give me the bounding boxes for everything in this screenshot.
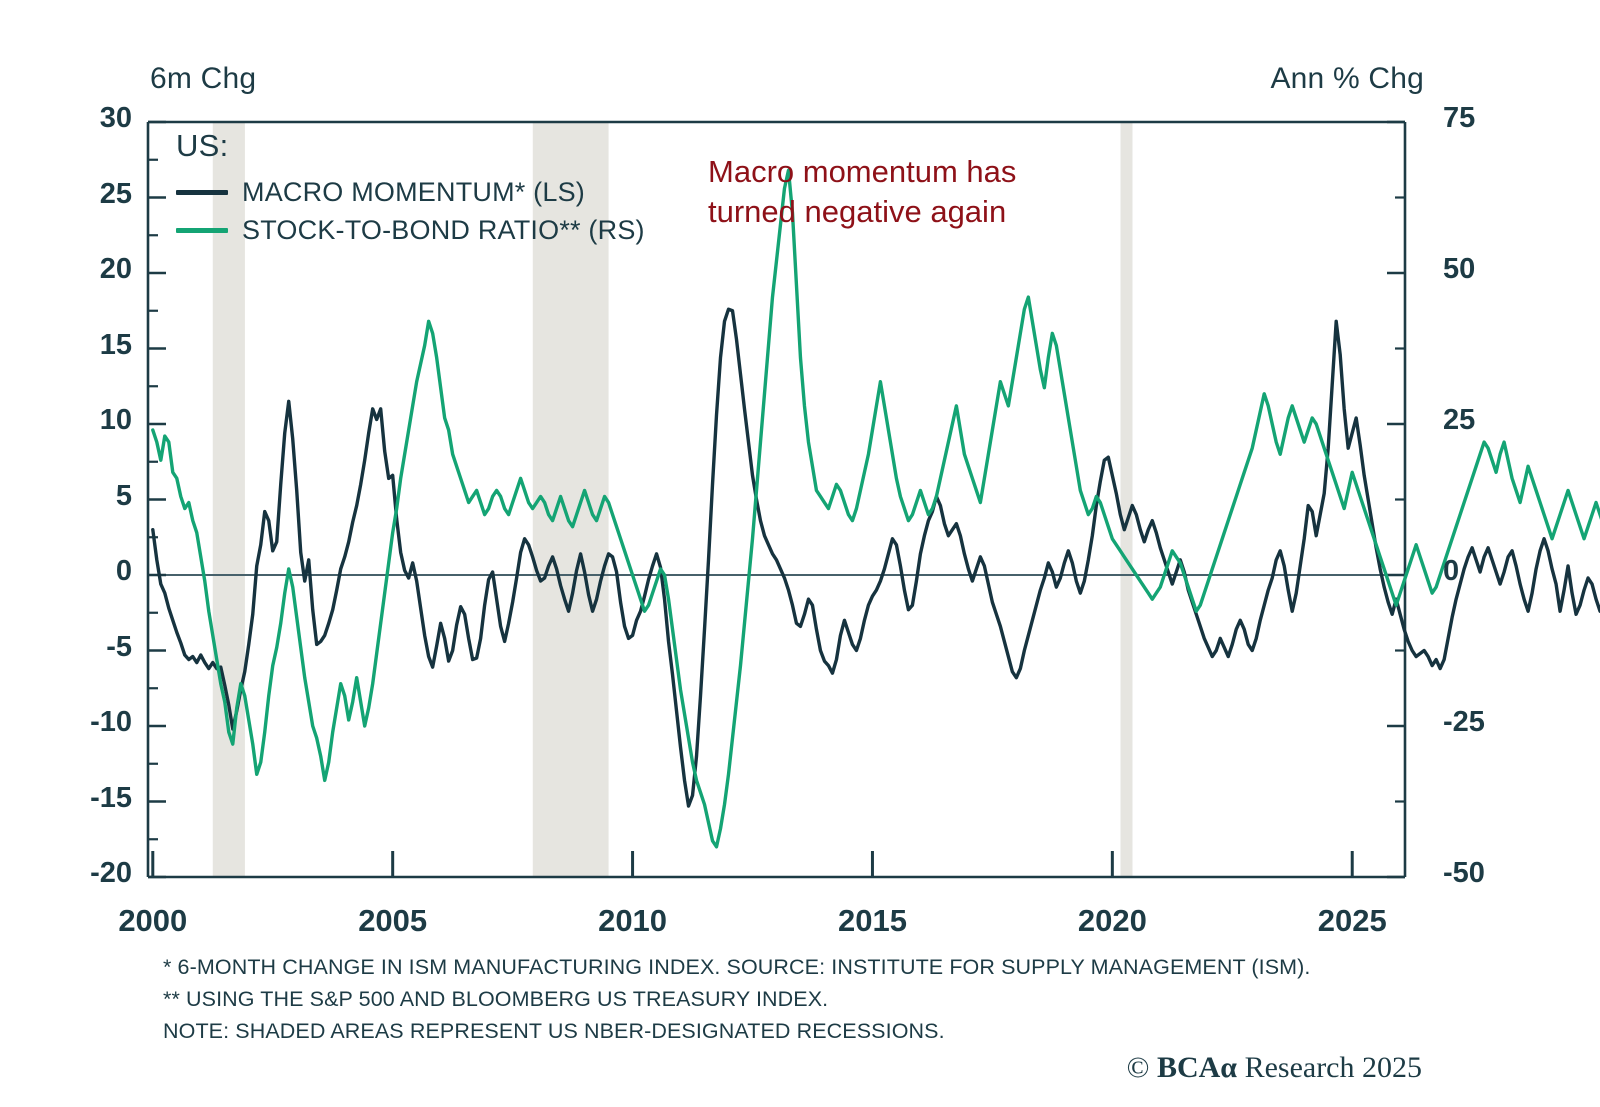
recession-shading	[1120, 122, 1132, 877]
legend-label-stock-to-bond-ratio: STOCK-TO-BOND RATIO** (RS)	[242, 215, 645, 246]
footnote-1: * 6-MONTH CHANGE IN ISM MANUFACTURING IN…	[163, 952, 1311, 984]
chart-legend: US: MACRO MOMENTUM* (LS) STOCK-TO-BOND R…	[176, 128, 645, 249]
series-line-macro-momentum	[153, 309, 1600, 806]
y-tick-label-right: 0	[1443, 555, 1563, 588]
y-tick-label-left: 15	[40, 329, 132, 362]
y-tick-label-left: 20	[40, 253, 132, 286]
y-tick-label-right: -25	[1443, 706, 1563, 739]
x-tick-label: 2020	[1032, 903, 1192, 939]
legend-item-macro-momentum: MACRO MOMENTUM* (LS)	[176, 173, 645, 211]
y-tick-label-left: 10	[40, 404, 132, 437]
x-tick-label: 2010	[553, 903, 713, 939]
x-tick-label: 2000	[73, 903, 233, 939]
legend-swatch-macro-momentum	[176, 190, 228, 195]
y-tick-label-right: -50	[1443, 857, 1563, 890]
legend-label-macro-momentum: MACRO MOMENTUM* (LS)	[242, 177, 585, 208]
legend-item-stock-to-bond-ratio: STOCK-TO-BOND RATIO** (RS)	[176, 211, 645, 249]
footnotes: * 6-MONTH CHANGE IN ISM MANUFACTURING IN…	[163, 952, 1311, 1047]
footnote-2: ** USING THE S&P 500 AND BLOOMBERG US TR…	[163, 984, 1311, 1016]
y-tick-label-left: -20	[40, 857, 132, 890]
y-tick-label-left: -5	[40, 631, 132, 664]
y-tick-label-left: 0	[40, 555, 132, 588]
y-tick-label-left: -15	[40, 782, 132, 815]
x-tick-label: 2025	[1272, 903, 1432, 939]
copyright-notice: © BCAα Research 2025	[1127, 1051, 1422, 1085]
copyright-symbol: ©	[1127, 1051, 1150, 1084]
footnote-3: NOTE: SHADED AREAS REPRESENT US NBER-DES…	[163, 1016, 1311, 1048]
brand-name: BCAα	[1157, 1051, 1237, 1084]
chart-annotation: Macro momentum has turned negative again	[708, 152, 1016, 231]
y-tick-label-right: 50	[1443, 253, 1563, 286]
series-line-stock-to-bond-ratio	[153, 170, 1600, 846]
y-tick-label-left: 5	[40, 480, 132, 513]
y-tick-label-left: 25	[40, 178, 132, 211]
y-tick-label-left: 30	[40, 102, 132, 135]
legend-title: US:	[176, 128, 645, 164]
x-tick-label: 2015	[792, 903, 952, 939]
copyright-rest: Research 2025	[1245, 1051, 1422, 1084]
y-tick-label-left: -10	[40, 706, 132, 739]
y-tick-label-right: 75	[1443, 102, 1563, 135]
legend-swatch-stock-to-bond-ratio	[176, 228, 228, 233]
y-tick-label-right: 25	[1443, 404, 1563, 437]
x-tick-label: 2005	[313, 903, 473, 939]
